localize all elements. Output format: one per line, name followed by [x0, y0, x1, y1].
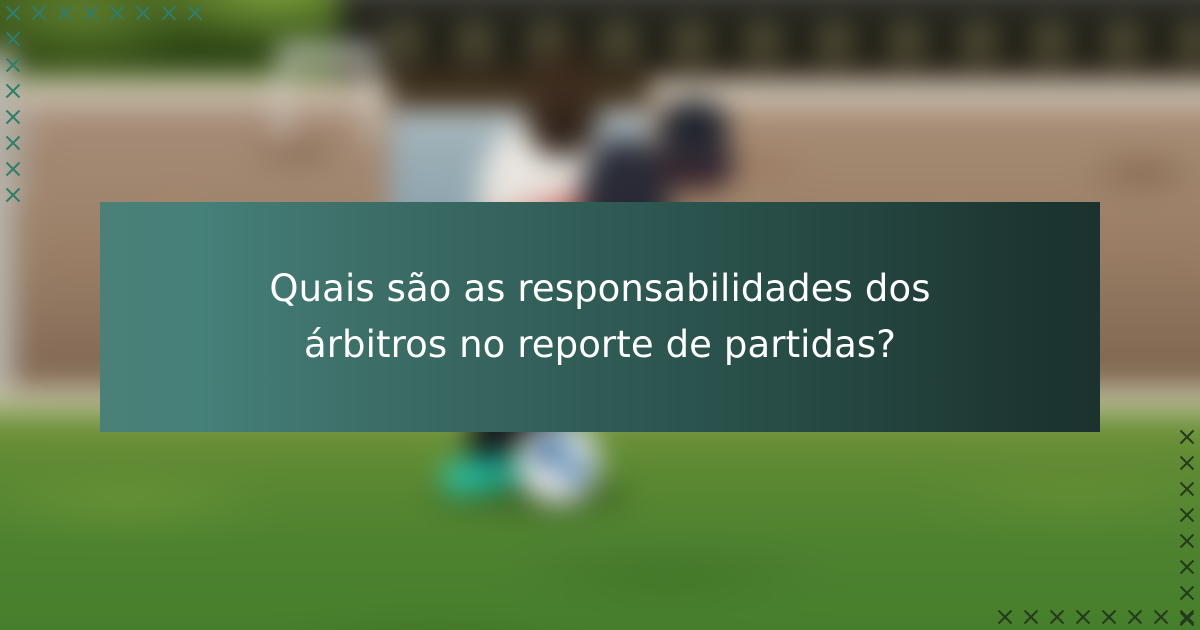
background-white-chair [278, 46, 374, 142]
background-post-bracket [0, 90, 30, 199]
background-player-hair-bun [542, 46, 586, 86]
background-roof-slats [380, 22, 1200, 62]
page-title: Quais são as responsabilidades dos árbit… [172, 261, 1028, 373]
background-ball-marking [556, 430, 572, 445]
social-card-canvas: Quais são as responsabilidades dos árbit… [0, 0, 1200, 630]
background-second-figure-lower [654, 138, 734, 190]
background-grass-texture [0, 412, 1200, 630]
title-overlay-card: Quais são as responsabilidades dos árbit… [100, 202, 1100, 432]
